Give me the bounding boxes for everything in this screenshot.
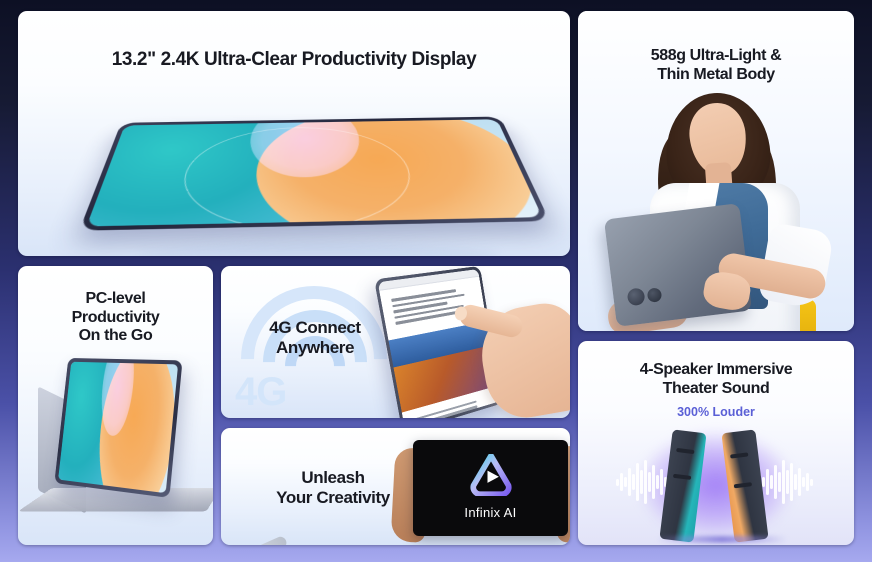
soundwave-bar xyxy=(794,474,797,490)
soundwave-bar xyxy=(766,469,769,495)
tablet-on-keyboard-image xyxy=(54,358,182,498)
stylus-pen xyxy=(221,535,288,545)
creativity-title-line1: Unleash xyxy=(301,468,364,487)
pc-productivity-panel[interactable]: PC-level Productivity On the Go xyxy=(18,266,213,545)
soundwave-bar xyxy=(660,469,663,495)
pc-panel-title: PC-level Productivity On the Go xyxy=(18,290,213,346)
soundwave-bar xyxy=(640,470,643,494)
tablet-reflection xyxy=(138,243,498,256)
soundwave-bar xyxy=(652,465,655,499)
soundwave-bar xyxy=(624,477,627,487)
camera-lens-secondary-icon xyxy=(647,287,663,303)
soundwave-bar xyxy=(786,470,789,494)
soundwave-bar xyxy=(628,468,631,496)
sound-panel-title: 4-Speaker Immersive Theater Sound xyxy=(578,361,854,398)
metal-body-panel[interactable]: 588g Ultra-Light & Thin Metal Body xyxy=(578,11,854,331)
soundwave-bar xyxy=(648,472,651,492)
soundwave-bar xyxy=(636,463,639,501)
display-panel-title: 13.2" 2.4K Ultra-Clear Productivity Disp… xyxy=(18,49,570,71)
soundwave-bar xyxy=(620,473,623,491)
infinix-ai-label: Infinix AI xyxy=(413,505,568,520)
soundwave-bar xyxy=(632,474,635,490)
camera-lens-primary-icon xyxy=(627,287,646,306)
4g-watermark: 4G xyxy=(235,370,286,415)
soundwave-bar xyxy=(644,460,647,504)
soundwave-bar xyxy=(616,479,619,486)
speaker-sound-panel[interactable]: 4-Speaker Immersive Theater Sound 300% L… xyxy=(578,341,854,545)
creativity-panel-title: Unleash Your Creativity xyxy=(233,468,433,508)
metal-body-panel-title: 588g Ultra-Light & Thin Metal Body xyxy=(578,47,854,84)
soundwave-bar xyxy=(778,472,781,492)
pc-title-line2: Productivity xyxy=(72,309,160,326)
feature-collage: 13.2" 2.4K Ultra-Clear Productivity Disp… xyxy=(0,0,872,562)
4g-panel-title: 4G Connect Anywhere xyxy=(225,318,405,358)
tablet-ai-screen: Infinix AI xyxy=(413,440,568,536)
creativity-panel[interactable]: Unleash Your Creativity Infinix AI xyxy=(221,428,570,545)
soundwave-bar xyxy=(762,477,765,487)
soundwave-bar xyxy=(770,475,773,489)
soundwave-bar xyxy=(774,465,777,499)
keyboard-case xyxy=(18,488,213,512)
display-panel[interactable]: 13.2" 2.4K Ultra-Clear Productivity Disp… xyxy=(18,11,570,256)
4g-title-line2: Anywhere xyxy=(276,338,354,357)
metal-body-title-line2: Thin Metal Body xyxy=(657,66,775,83)
soundwave-bar xyxy=(798,468,801,496)
metal-body-title-line1: 588g Ultra-Light & xyxy=(651,47,782,64)
sound-title-line2: Theater Sound xyxy=(663,380,770,397)
pc-title-line1: PC-level xyxy=(86,290,146,307)
soundwave-bar xyxy=(810,479,813,486)
surface-reflection xyxy=(657,536,787,543)
soundwave-bar xyxy=(806,473,809,491)
soundwave-bar xyxy=(782,460,785,504)
soundwave-bar xyxy=(790,463,793,501)
tablet-front-image xyxy=(79,117,550,231)
soundwave-bar xyxy=(656,475,659,489)
pc-title-line3: On the Go xyxy=(79,327,153,344)
4g-title-line1: 4G Connect xyxy=(269,318,360,337)
soundwave-bar xyxy=(802,477,805,487)
louder-badge: 300% Louder xyxy=(578,405,854,419)
creativity-title-line2: Your Creativity xyxy=(276,488,390,507)
infinix-ai-logo-icon xyxy=(469,454,513,496)
sound-title-line1: 4-Speaker Immersive xyxy=(640,361,793,378)
4g-connect-panel[interactable]: 4G 4G Connect Anywhere xyxy=(221,266,570,418)
